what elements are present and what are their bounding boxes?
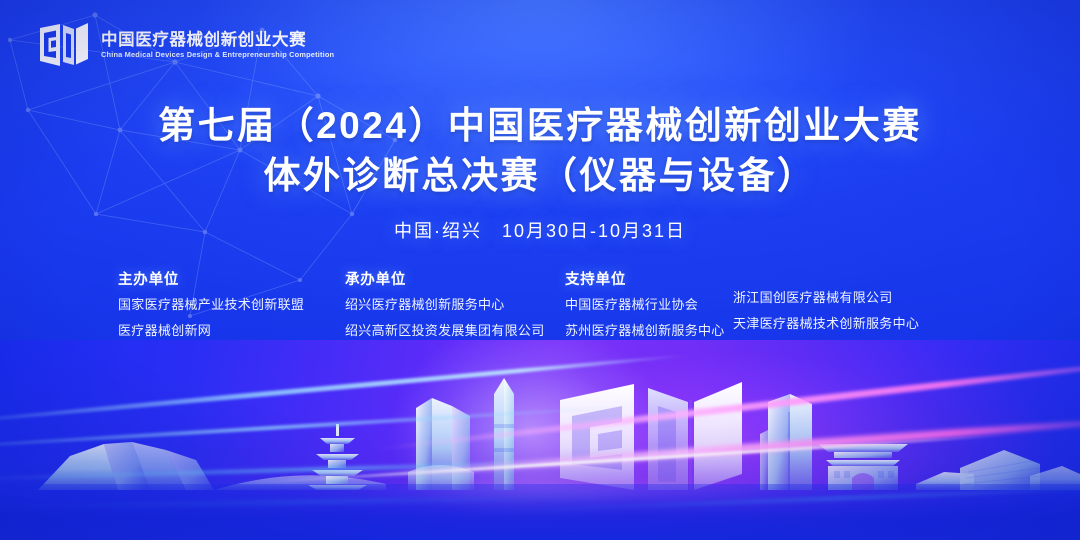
organizer-heading: 支持单位: [565, 268, 733, 289]
page-title-line2: 体外诊断总决赛（仪器与设备）: [0, 154, 1080, 198]
tower-icon: [494, 378, 514, 490]
hero-titles: 第七届（2024）中国医疗器械创新创业大赛 体外诊断总决赛（仪器与设备） 中国·…: [0, 104, 1080, 243]
office-tower-icon: [760, 394, 812, 490]
organizer-column-support: 支持单位 中国医疗器械行业协会 苏州医疗器械创新服务中心: [565, 268, 733, 350]
organizer-item: 中国医疗器械行业协会: [565, 298, 733, 311]
organizer-heading: 承办单位: [345, 268, 565, 289]
brand-name-en: China Medical Devices Design & Entrepren…: [101, 51, 334, 58]
organizer-item: 浙江国创医疗器械有限公司: [733, 291, 998, 304]
organizer-column-host: 主办单位 国家医疗器械产业技术创新联盟 医疗器械创新网: [118, 268, 345, 350]
organizer-heading: 主办单位: [118, 268, 345, 289]
organizer-item: 绍兴高新区投资发展集团有限公司: [345, 324, 565, 337]
brand-name-cn: 中国医疗器械创新创业大赛: [101, 32, 334, 49]
organizer-column-co-host: 承办单位 绍兴医疗器械创新服务中心 绍兴高新区投资发展集团有限公司: [345, 268, 565, 350]
organizer-item: 天津医疗器械技术创新服务中心: [733, 317, 998, 330]
organizer-item: 绍兴医疗器械创新服务中心: [345, 298, 565, 311]
skyscraper-icon: [408, 398, 474, 490]
ground-plane: [0, 484, 1080, 540]
organizer-item: 医疗器械创新网: [118, 324, 345, 337]
competition-logo-monument-icon: [560, 382, 742, 490]
organizer-item: 苏州医疗器械创新服务中心: [565, 324, 733, 337]
city-skyline-scene: [0, 340, 1080, 540]
open-book-door-logo-icon: [38, 22, 90, 68]
brand-logo: 中国医疗器械创新创业大赛 China Medical Devices Desig…: [38, 22, 334, 68]
event-poster: 中国医疗器械创新创业大赛 China Medical Devices Desig…: [0, 0, 1080, 540]
organizer-item: 国家医疗器械产业技术创新联盟: [118, 298, 345, 311]
event-location-date: 中国·绍兴 10月30日-10月31日: [0, 217, 1080, 243]
page-title-line1: 第七届（2024）中国医疗器械创新创业大赛: [0, 104, 1080, 148]
